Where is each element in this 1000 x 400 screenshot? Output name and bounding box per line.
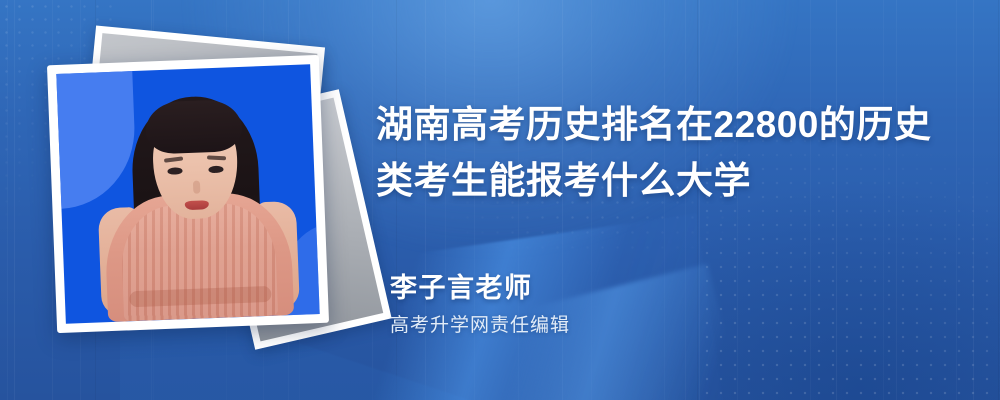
article-header-banner: 湖南高考历史排名在22800的历史类考生能报考什么大学 李子言老师 高考升学网责… [0, 0, 1000, 400]
author-photo-card [47, 55, 329, 333]
portrait-illustration [88, 87, 307, 323]
portrait-mouth [185, 200, 209, 210]
photo-card-stack [52, 30, 342, 360]
portrait-nose [193, 181, 200, 194]
article-title: 湖南高考历史排名在22800的历史类考生能报考什么大学 [376, 97, 936, 209]
author-name: 李子言老师 [390, 272, 570, 304]
portrait-eye-right [208, 166, 223, 174]
author-photo [56, 64, 319, 324]
portrait-eye-left [167, 167, 182, 175]
portrait-fringe [145, 99, 243, 155]
author-byline: 李子言老师 高考升学网责任编辑 [390, 272, 570, 338]
portrait-brow-right [207, 155, 226, 160]
author-role: 高考升学网责任编辑 [390, 315, 570, 338]
banner-text-column: 湖南高考历史排名在22800的历史类考生能报考什么大学 李子言老师 高考升学网责… [376, 0, 976, 400]
portrait-brow-left [164, 156, 183, 162]
